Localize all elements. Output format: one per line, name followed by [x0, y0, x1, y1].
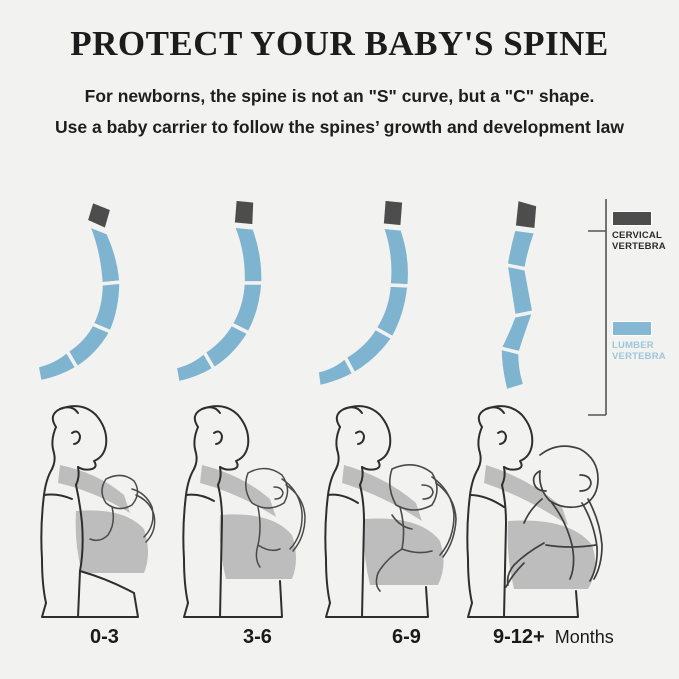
legend-item-cervical: CERVICAL VERTEBRA — [612, 211, 676, 252]
months-suffix-text: Months — [555, 627, 614, 647]
cervical-color-swatch — [612, 211, 652, 226]
age-labels-row: 0-3 3-6 6-9 9-12+ Months — [0, 626, 679, 660]
spine-diagram-6-9 — [304, 185, 454, 420]
cervical-segment — [382, 199, 404, 227]
age-label-9-12: 9-12+ Months — [493, 626, 614, 649]
spine-diagram-row — [0, 185, 679, 420]
spine-diagram-3-6 — [162, 185, 312, 420]
lumbar-label-line-1: LUMBER — [612, 340, 654, 351]
carrier-figures-row — [0, 403, 679, 625]
cervical-label-line-1: CERVICAL — [612, 230, 662, 241]
spine-diagram-0-3 — [20, 185, 170, 420]
lumbar-legend-label: LUMBER VERTEBRA — [612, 340, 676, 362]
age-label-6-9: 6-9 — [392, 626, 421, 649]
page-title: PROTECT YOUR BABY'S SPINE — [0, 24, 679, 64]
cervical-legend-label: CERVICAL VERTEBRA — [612, 230, 676, 252]
age-label-9-12-text: 9-12+ — [493, 626, 545, 648]
age-label-0-3-text: 0-3 — [90, 626, 119, 648]
header-block: PROTECT YOUR BABY'S SPINE For newborns, … — [0, 0, 679, 160]
age-label-3-6: 3-6 — [243, 626, 272, 649]
cervical-segment — [514, 199, 538, 230]
legend-item-lumbar: LUMBER VERTEBRA — [612, 321, 676, 362]
subtitle-line-2: Use a baby carrier to follow the spines’… — [0, 117, 679, 138]
spine-diagram-9-12 — [446, 185, 596, 420]
age-label-0-3: 0-3 — [90, 626, 119, 649]
age-label-3-6-text: 3-6 — [243, 626, 272, 648]
carrier-figure-9-12 — [446, 403, 618, 625]
age-label-6-9-text: 6-9 — [392, 626, 421, 648]
lumbar-label-line-2: VERTEBRA — [612, 351, 666, 362]
legend-panel: CERVICAL VERTEBRA LUMBER VERTEBRA — [588, 193, 679, 421]
cervical-segment — [233, 199, 255, 226]
subtitle-line-1: For newborns, the spine is not an "S" cu… — [0, 86, 679, 107]
infographic-page: PROTECT YOUR BABY'S SPINE For newborns, … — [0, 0, 679, 679]
cervical-label-line-2: VERTEBRA — [612, 241, 666, 252]
lumbar-color-swatch — [612, 321, 652, 336]
